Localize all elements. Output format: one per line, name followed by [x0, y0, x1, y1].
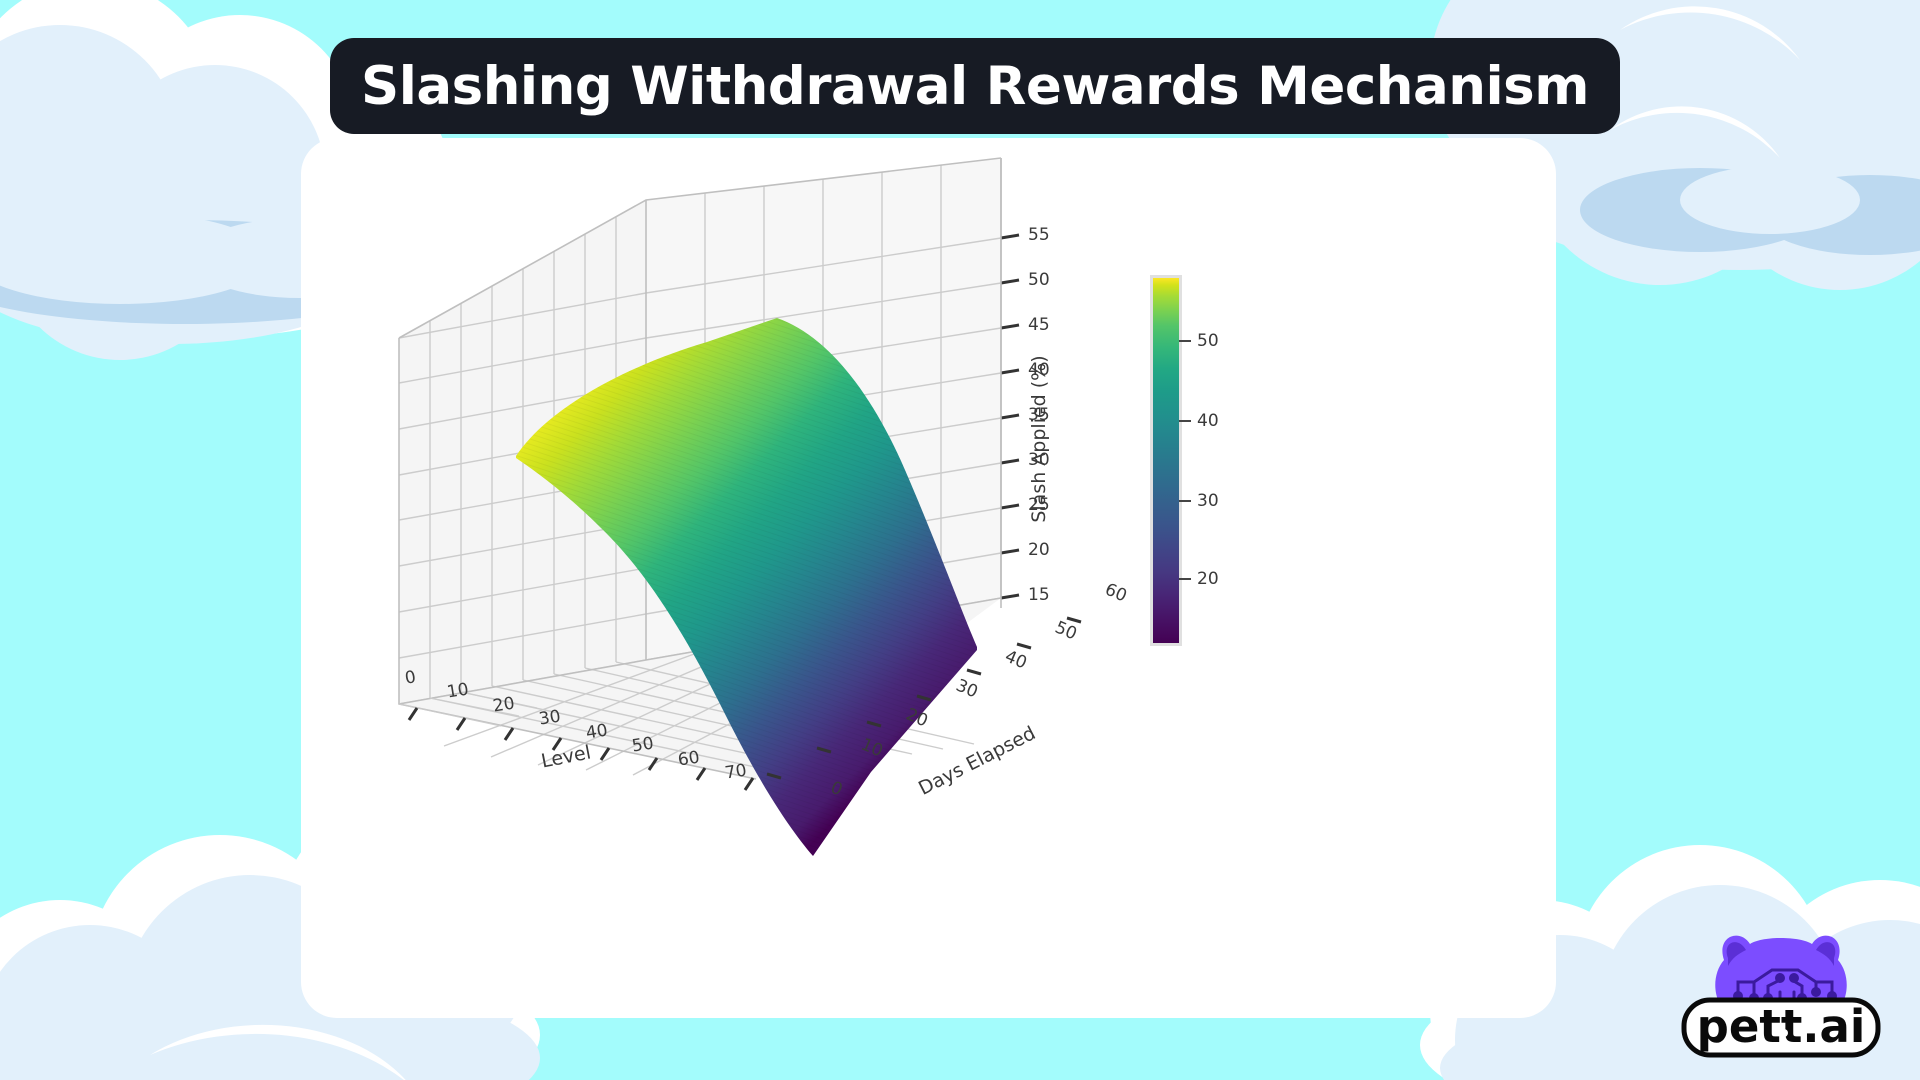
- z-tick-6: 45: [1028, 315, 1050, 335]
- x-tick-6: 60: [677, 747, 702, 770]
- colorbar-gradient: [1153, 278, 1179, 643]
- pett-ai-logo[interactable]: pett.ai: [1676, 930, 1886, 1065]
- logo-text: pett.ai: [1697, 1000, 1866, 1053]
- z-axis-label: Slash Applied (%): [1028, 355, 1050, 522]
- colorbar-label-20: 20: [1197, 569, 1219, 589]
- colorbar-label-50: 50: [1197, 331, 1219, 351]
- z-tick-1: 20: [1028, 540, 1050, 560]
- colorbar-label-40: 40: [1197, 411, 1219, 431]
- x-tick-3: 30: [538, 706, 563, 729]
- poster-stage: Slashing Withdrawal Rewards Mechanism: [0, 0, 1920, 1080]
- z-axis-ticks: [1001, 235, 1019, 598]
- x-tick-1: 10: [446, 679, 471, 702]
- logo-wordmark: pett.ai: [1684, 1000, 1878, 1055]
- z-tick-8: 55: [1028, 225, 1050, 245]
- title-banner: Slashing Withdrawal Rewards Mechanism: [330, 38, 1620, 134]
- colorbar-tick-20: [1179, 578, 1191, 580]
- x-tick-7: 70: [724, 760, 749, 783]
- surface-plot-figure: 0 10 20 30 40 50 60 70 Level 0 10 20 30 …: [301, 138, 1556, 1018]
- colorbar-tick-40: [1179, 420, 1191, 422]
- z-tick-0: 15: [1028, 585, 1050, 605]
- z-tick-7: 50: [1028, 270, 1050, 290]
- colorbar-label-30: 30: [1197, 491, 1219, 511]
- surface-plot-svg: [301, 138, 1556, 1018]
- paw-icon: [1780, 1029, 1788, 1037]
- x-tick-4: 40: [585, 720, 610, 743]
- x-tick-5: 50: [631, 733, 656, 756]
- chart-card: 0 10 20 30 40 50 60 70 Level 0 10 20 30 …: [301, 138, 1556, 1018]
- colorbar-tick-50: [1179, 340, 1191, 342]
- page-title: Slashing Withdrawal Rewards Mechanism: [361, 56, 1589, 117]
- x-tick-2: 20: [492, 693, 517, 716]
- colorbar-tick-30: [1179, 500, 1191, 502]
